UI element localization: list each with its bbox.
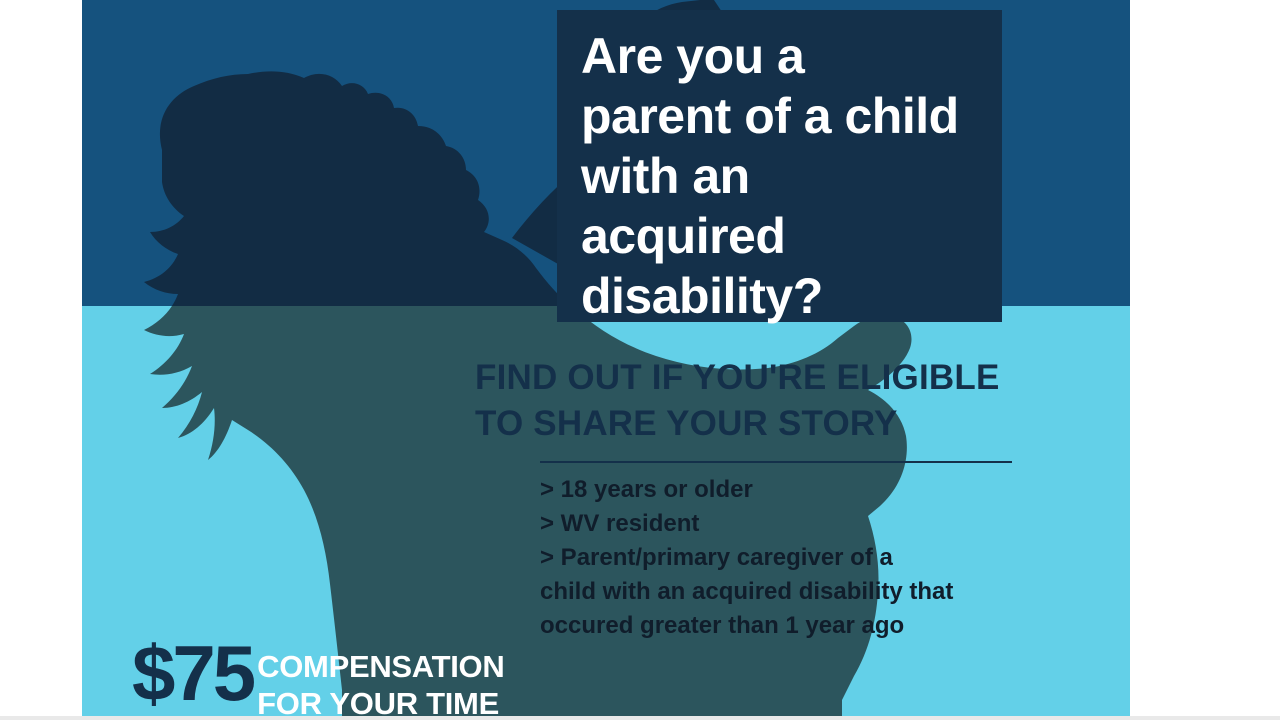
eligibility-criteria-list: > 18 years or older > WV resident > Pare… [540, 473, 1060, 643]
headline-box: Are you a parent of a child with an acqu… [557, 10, 1002, 322]
divider-rule [540, 461, 1012, 463]
bottom-edge-strip [0, 716, 1280, 720]
flyer-root: Are you a parent of a child with an acqu… [0, 0, 1280, 720]
compensation-amount: $75 [132, 634, 253, 712]
subheadline: FIND OUT IF YOU'RE ELIGIBLE TO SHARE YOU… [475, 355, 1095, 447]
compensation-caption-line-1: COMPENSATION [257, 648, 504, 685]
page-title: Are you a parent of a child with an acqu… [581, 26, 1002, 326]
list-item: > WV resident [540, 507, 1060, 541]
compensation-block: $75 COMPENSATION FOR YOUR TIME [132, 634, 504, 716]
compensation-caption-line-2: FOR YOUR TIME [257, 685, 504, 716]
list-item: > 18 years or older [540, 473, 1060, 507]
poster-canvas: Are you a parent of a child with an acqu… [82, 0, 1130, 716]
compensation-caption: COMPENSATION FOR YOUR TIME [257, 634, 504, 716]
list-item: > Parent/primary caregiver of a child wi… [540, 541, 1060, 643]
